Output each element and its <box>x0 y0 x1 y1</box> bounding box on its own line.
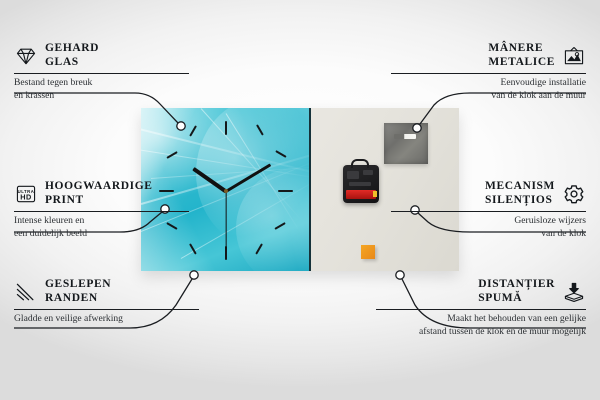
callout-subtitle: Maakt het behouden van een gelijke afsta… <box>376 313 586 338</box>
callout-heading: ultra HD HOOGWAARDIGE PRINT <box>14 180 189 207</box>
hands-pin <box>224 189 228 193</box>
callout-divider <box>14 309 199 310</box>
beveled-edge-icon <box>14 281 38 303</box>
callout-high-quality-print: ultra HD HOOGWAARDIGE PRINT Intense kleu… <box>14 180 189 240</box>
ultra-hd-icon: ultra HD <box>14 183 38 205</box>
spacer-press-icon <box>562 281 586 303</box>
callout-divider <box>14 73 189 74</box>
callout-title: HOOGWAARDIGE PRINT <box>45 180 153 207</box>
clock-movement-box <box>343 165 379 203</box>
callout-title: MECANISM SILENȚIOS <box>485 180 555 207</box>
hanger-loop-icon <box>351 159 369 168</box>
callout-divider <box>376 309 586 310</box>
second-hand <box>225 191 226 249</box>
tick-3 <box>278 190 293 192</box>
diamond-icon <box>14 45 38 67</box>
callout-heading: MECANISM SILENȚIOS <box>391 180 586 207</box>
callout-subtitle: Eenvoudige installatie van de klok aan d… <box>391 77 586 102</box>
callout-metal-handles: MÂNERE METALICE Eenvoudige installatie v… <box>391 42 586 102</box>
callout-divider <box>14 211 189 212</box>
callout-title: MÂNERE METALICE <box>488 42 555 69</box>
callout-title: GESLEPEN RANDEN <box>45 278 111 305</box>
callout-beveled-edges: GESLEPEN RANDEN Gladde en veilige afwerk… <box>14 278 199 326</box>
metal-hanger-plate <box>384 123 428 164</box>
svg-text:HD: HD <box>20 192 32 201</box>
callout-silent-mechanism: MECANISM SILENȚIOS Geruisloze wijzers va… <box>391 180 586 240</box>
callout-heading: GESLEPEN RANDEN <box>14 278 199 305</box>
hanger-slot <box>394 134 416 139</box>
callout-tempered-glass: GEHARD GLAS Bestand tegen breuk en krass… <box>14 42 189 102</box>
movement-detail <box>349 182 371 186</box>
callout-subtitle: Intense kleuren en een duidelijk beeld <box>14 215 189 240</box>
callout-title: DISTANȚIER SPUMĂ <box>478 278 555 305</box>
callout-divider <box>391 211 586 212</box>
callout-subtitle: Geruisloze wijzers van de klok <box>391 215 586 240</box>
callout-heading: GEHARD GLAS <box>14 42 189 69</box>
callout-subtitle: Bestand tegen breuk en krassen <box>14 77 189 102</box>
infographic-stage: GEHARD GLAS Bestand tegen breuk en krass… <box>0 0 600 400</box>
gear-icon <box>562 183 586 205</box>
foam-spacer <box>361 245 375 259</box>
callout-foam-spacer: DISTANȚIER SPUMĂ Maakt het behouden van … <box>376 278 586 338</box>
movement-detail <box>347 171 359 179</box>
battery-terminal <box>373 191 377 197</box>
callout-divider <box>391 73 586 74</box>
callout-title: GEHARD GLAS <box>45 42 99 69</box>
callout-heading: MÂNERE METALICE <box>391 42 586 69</box>
tick-12 <box>225 121 227 135</box>
movement-detail <box>363 170 373 175</box>
picture-frame-icon <box>562 45 586 67</box>
battery <box>346 190 376 199</box>
callout-heading: DISTANȚIER SPUMĂ <box>376 278 586 305</box>
callout-subtitle: Gladde en veilige afwerking <box>14 313 199 325</box>
